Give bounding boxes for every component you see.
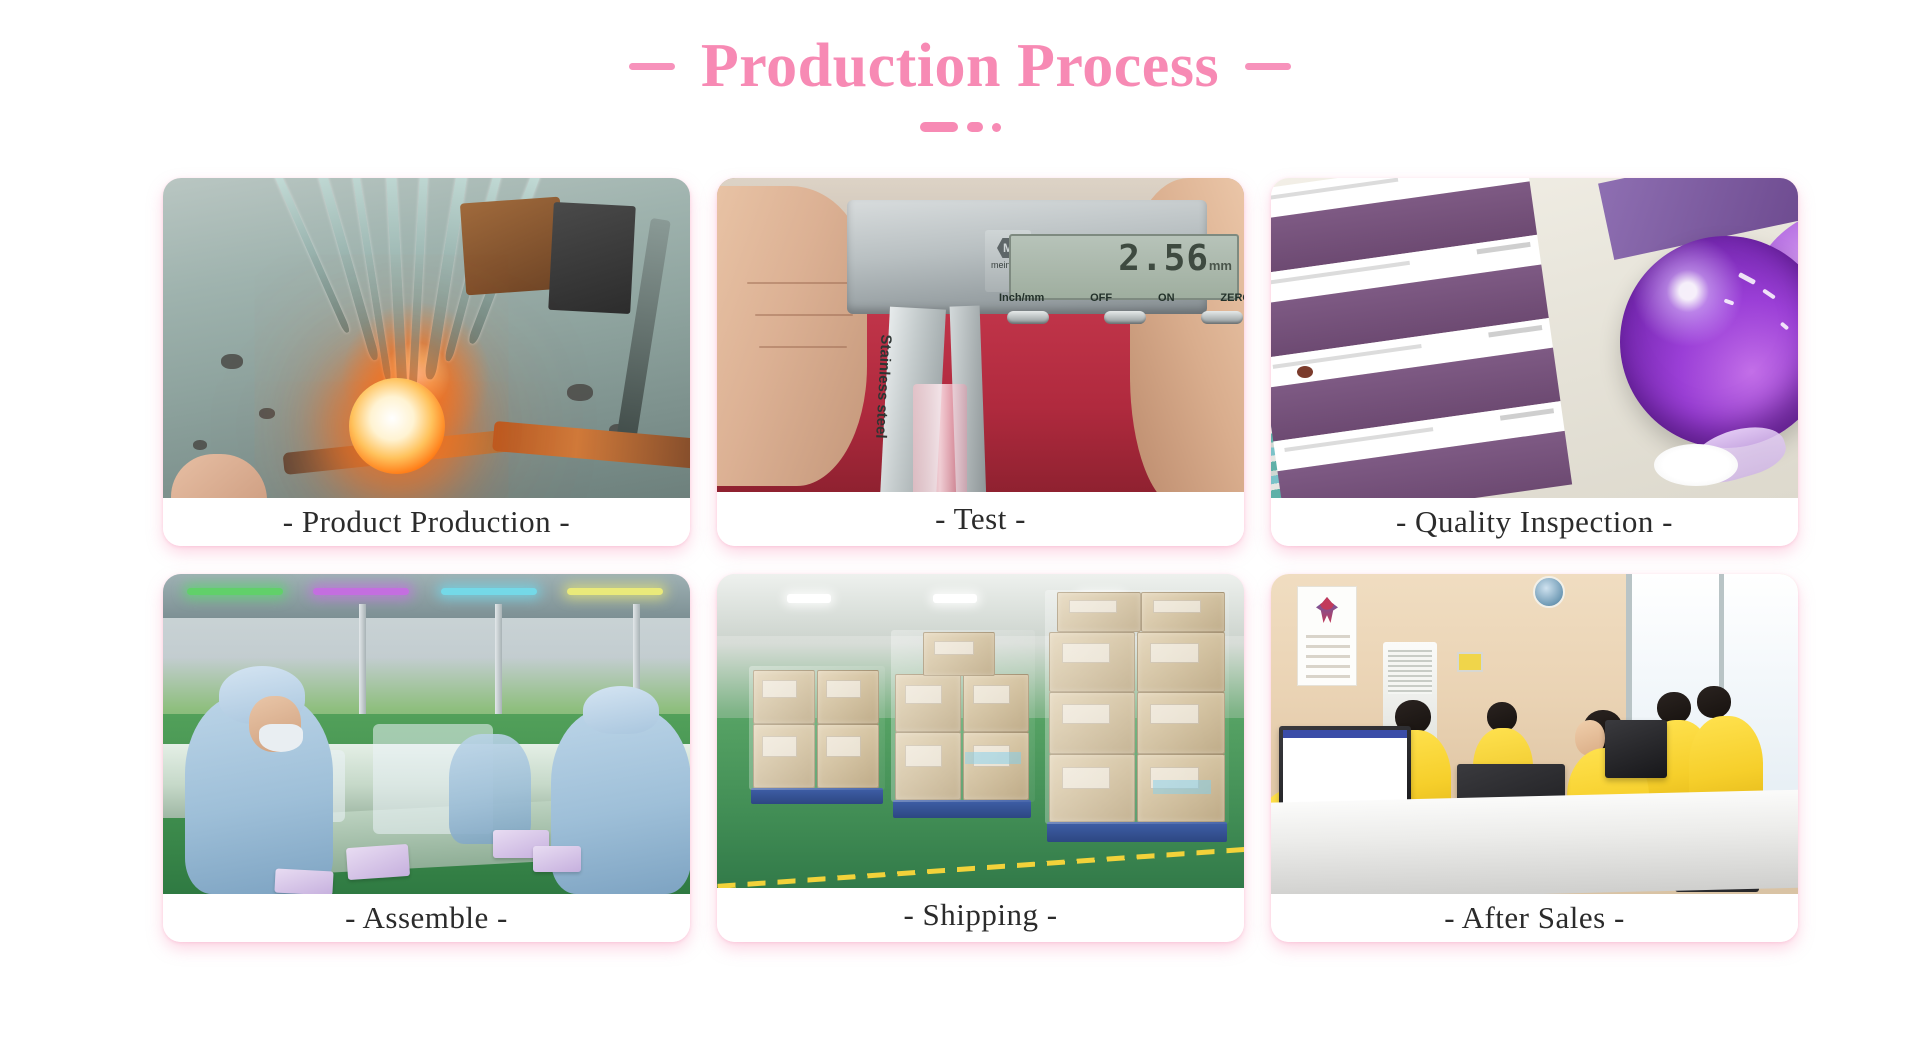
card-label-quality-inspection: - Quality Inspection - <box>1271 498 1798 546</box>
ceiling-strip <box>163 574 690 618</box>
worker-back-right-cap <box>583 686 659 734</box>
process-card-grid: - Product Production - meinaite <box>163 178 1803 942</box>
dash-icon-left <box>629 63 675 70</box>
pallet-left <box>751 788 883 804</box>
molten-glass-glow <box>349 378 445 474</box>
caliper-button-zero <box>1201 311 1243 324</box>
caliper-label-on: ON <box>1158 292 1175 304</box>
pallet-middle <box>893 800 1031 818</box>
wall-poster <box>1297 586 1357 686</box>
wall-clock <box>1533 576 1565 608</box>
caliper-reading-value: 2.56 <box>1118 238 1209 279</box>
poster-figure-icon <box>1316 597 1338 623</box>
process-card-test[interactable]: meinaite 2.56 mm Inch/mm OFF ON ZERO <box>717 178 1244 546</box>
dark-block <box>548 202 636 314</box>
dash-icon-right <box>1245 63 1291 70</box>
card-label-shipping: - Shipping - <box>717 888 1244 942</box>
glass-sample <box>913 384 967 492</box>
staff-head-right-far <box>1697 686 1731 718</box>
caliper-label-off: OFF <box>1090 292 1112 304</box>
caliper-reading-unit: mm <box>1209 258 1232 273</box>
pallet-right <box>1047 822 1227 842</box>
product-box-1 <box>346 844 410 880</box>
ac-vents <box>1388 650 1432 694</box>
caliper-button-labels: Inch/mm OFF ON ZERO <box>999 292 1244 304</box>
card-label-product-production: - Product Production - <box>163 498 690 546</box>
card-label-assemble: - Assemble - <box>163 894 690 942</box>
purple-glass-sphere <box>1620 236 1798 448</box>
torch-nozzle <box>492 421 690 469</box>
product-box-4 <box>274 868 333 894</box>
cotton-swab <box>1654 444 1738 486</box>
dot-medium-icon <box>967 122 983 132</box>
production-process-page: Production Process <box>0 0 1920 1042</box>
product-box-3 <box>533 846 581 872</box>
title-row: Production Process <box>0 22 1920 110</box>
dash-long-icon <box>920 122 958 132</box>
card-label-test: - Test - <box>717 492 1244 546</box>
pantone-swatch-book <box>1271 178 1604 498</box>
photo-quality-inspection <box>1271 178 1798 498</box>
wall-safety-sign <box>1457 652 1483 672</box>
office-desk <box>1271 789 1798 894</box>
left-hand <box>717 186 867 486</box>
caliper-button-inchmm <box>1007 311 1049 324</box>
monitor-right <box>1605 720 1667 778</box>
page-title: Production Process <box>701 35 1219 97</box>
photo-product-production <box>163 178 690 498</box>
process-card-quality-inspection[interactable]: - Quality Inspection - <box>1271 178 1798 546</box>
caliper-lcd: 2.56 mm <box>1009 234 1239 300</box>
photo-assemble <box>163 574 690 894</box>
worker-hand <box>171 454 267 498</box>
photo-shipping <box>717 574 1244 888</box>
worker-front-mask <box>259 724 303 752</box>
process-card-product-production[interactable]: - Product Production - <box>163 178 690 546</box>
process-card-shipping[interactable]: - Shipping - <box>717 574 1244 942</box>
caliper-button-off <box>1104 311 1146 324</box>
sub-decoration <box>0 122 1920 132</box>
process-card-assemble[interactable]: - Assemble - <box>163 574 690 942</box>
section-header: Production Process <box>0 22 1920 132</box>
caliper-label-zero: ZERO <box>1220 292 1244 304</box>
caliper-label-inchmm: Inch/mm <box>999 292 1044 304</box>
caliper-button-row <box>1007 304 1243 330</box>
process-card-after-sales[interactable]: - After Sales - <box>1271 574 1798 942</box>
table-stain <box>1297 366 1313 378</box>
worker-back-mid <box>449 734 531 844</box>
photo-test: meinaite 2.56 mm Inch/mm OFF ON ZERO <box>717 178 1244 492</box>
dot-small-icon <box>992 123 1001 132</box>
digital-caliper: meinaite 2.56 mm Inch/mm OFF ON ZERO <box>847 200 1207 314</box>
card-label-after-sales: - After Sales - <box>1271 894 1798 942</box>
photo-after-sales <box>1271 574 1798 894</box>
